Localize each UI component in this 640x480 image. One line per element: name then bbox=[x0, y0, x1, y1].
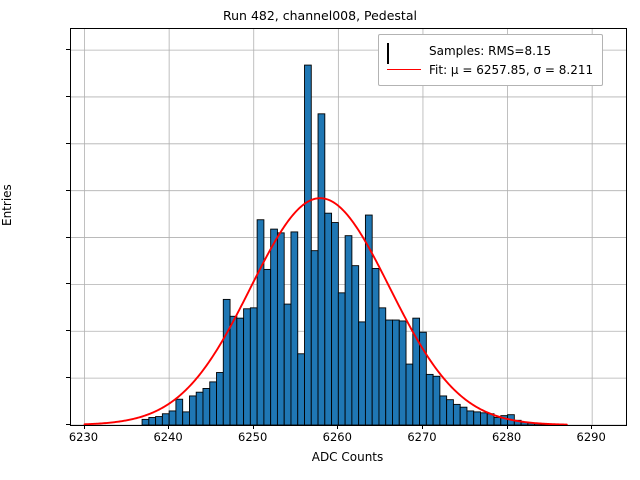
y-tick-mark bbox=[66, 424, 70, 425]
y-tick-mark bbox=[66, 330, 70, 331]
y-tick-mark bbox=[66, 49, 70, 50]
x-tick-mark bbox=[422, 425, 423, 429]
y-tick-mark bbox=[66, 143, 70, 144]
figure-canvas: Run 482, channel008, Pedestal 0100200300… bbox=[0, 0, 640, 480]
x-tick-label: 6270 bbox=[407, 430, 436, 444]
x-axis-label: ADC Counts bbox=[70, 450, 625, 464]
legend-item-fit: Fit: μ = 6257.85, σ = 8.211 bbox=[387, 60, 593, 79]
x-tick-mark bbox=[168, 425, 169, 429]
legend-line-icon bbox=[387, 63, 421, 77]
x-tick-mark bbox=[337, 425, 338, 429]
y-tick-mark bbox=[66, 190, 70, 191]
x-tick-label: 6280 bbox=[492, 430, 521, 444]
y-tick-mark bbox=[66, 283, 70, 284]
legend-item-samples: Samples: RMS=8.15 bbox=[387, 41, 593, 60]
y-tick-mark bbox=[66, 96, 70, 97]
legend-label-fit: Fit: μ = 6257.85, σ = 8.211 bbox=[429, 63, 593, 77]
x-tick-label: 6240 bbox=[153, 430, 182, 444]
legend-label-samples: Samples: RMS=8.15 bbox=[429, 44, 551, 58]
page-title: Run 482, channel008, Pedestal bbox=[0, 8, 640, 23]
x-tick-label: 6290 bbox=[577, 430, 606, 444]
y-tick-mark bbox=[66, 237, 70, 238]
data-layer bbox=[71, 29, 626, 425]
x-tick-mark bbox=[84, 425, 85, 429]
x-tick-mark bbox=[507, 425, 508, 429]
legend: Samples: RMS=8.15 Fit: μ = 6257.85, σ = … bbox=[378, 34, 603, 86]
legend-patch-icon bbox=[387, 44, 421, 58]
y-axis-label: Entries bbox=[0, 184, 14, 226]
x-tick-label: 6260 bbox=[323, 430, 352, 444]
x-tick-label: 6250 bbox=[238, 430, 267, 444]
x-tick-mark bbox=[591, 425, 592, 429]
x-tick-label: 6230 bbox=[69, 430, 98, 444]
y-tick-mark bbox=[66, 377, 70, 378]
x-tick-mark bbox=[253, 425, 254, 429]
plot-area bbox=[70, 28, 627, 426]
